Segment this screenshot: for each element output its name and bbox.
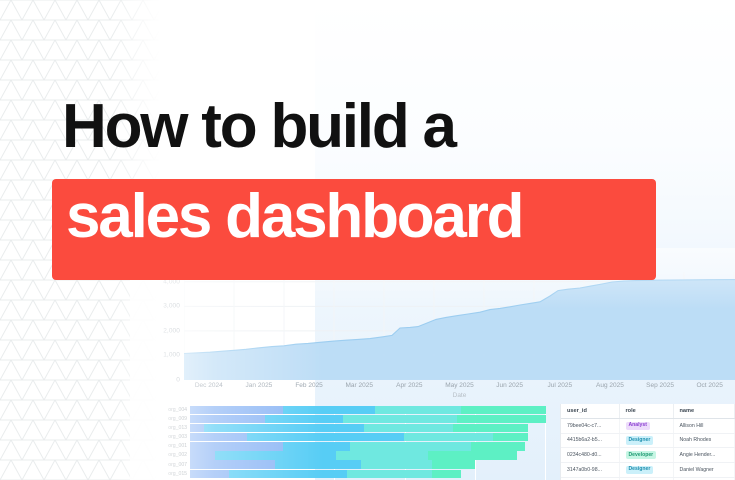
bar-category-label: org_015	[156, 471, 190, 477]
bar-segment-3	[404, 433, 493, 441]
title-highlight-band: sales dashboard	[52, 179, 656, 280]
role-badge: Designer	[626, 436, 654, 444]
bar-row[interactable]: org_003	[156, 433, 546, 441]
cell-name: Allison Hill	[673, 419, 735, 434]
bar-segment-1	[190, 470, 229, 478]
table-row[interactable]: 79bee04c-c7... Analyst Allison Hill	[561, 419, 735, 434]
x-tick-oct-2025: Oct 2025	[696, 382, 722, 389]
area-chart-fill	[184, 280, 735, 380]
y-tick-2000: 2,000	[163, 327, 180, 334]
bar-category-label: org_009	[156, 416, 190, 422]
bar-segment-4	[461, 406, 546, 414]
y-tick-1000: 1,000	[163, 352, 180, 359]
bar-segment-3	[347, 470, 432, 478]
cell-role: Analyst	[619, 419, 673, 434]
bar-category-label: org_001	[156, 443, 190, 449]
bar-category-label: org_002	[156, 452, 190, 458]
users-table: user_id role name 79bee04c-c7... Analyst…	[561, 404, 735, 480]
x-tick-dec-2024: Dec 2024	[195, 382, 223, 389]
role-badge: Analyst	[626, 422, 650, 430]
cell-name: Daniel Wagner	[673, 462, 735, 477]
bar-segment-2	[283, 442, 351, 450]
table-header-row: user_id role name	[561, 404, 735, 419]
org-stacked-bar-chart: org_004 org_009	[156, 406, 546, 480]
cell-role: Developer	[619, 448, 673, 463]
bar-row[interactable]: org_004	[156, 406, 546, 414]
bar-segment-3	[375, 406, 460, 414]
slide-canvas: 0 1,000 2,000 3,000 4,000	[0, 0, 735, 480]
cell-user-id: 0234c480-d0...	[561, 448, 619, 463]
bar-track	[190, 451, 546, 459]
bar-segment-2	[265, 415, 343, 423]
bar-track	[190, 415, 546, 423]
cell-role: Designer	[619, 433, 673, 448]
bar-segment-2	[204, 424, 364, 432]
bar-segment-2	[283, 406, 376, 414]
bar-segment-4	[471, 442, 524, 450]
y-tick-3000: 3,000	[163, 303, 180, 310]
area-chart-x-axis-title: Date	[184, 392, 735, 399]
bar-track	[190, 460, 546, 468]
bar-segment-4	[457, 415, 546, 423]
table-row[interactable]: 3147a0b0-98... Designer Daniel Wagner	[561, 462, 735, 477]
users-data-table[interactable]: user_id role name 79bee04c-c7... Analyst…	[560, 404, 735, 480]
cell-user-id: 79bee04c-c7...	[561, 419, 619, 434]
bar-segment-1	[190, 415, 265, 423]
bar-segment-3	[364, 424, 453, 432]
bar-segment-2	[229, 470, 346, 478]
bar-segment-4	[493, 433, 529, 441]
x-tick-may-2025: May 2025	[445, 382, 474, 389]
area-chart-plot	[184, 272, 735, 380]
bar-segment-1	[190, 406, 283, 414]
x-tick-apr-2025: Apr 2025	[396, 382, 422, 389]
area-chart-y-axis: 0 1,000 2,000 3,000 4,000	[152, 272, 180, 380]
y-tick-0: 0	[176, 377, 180, 384]
table-row[interactable]: 0234c480-d0... Developer Angie Hender...	[561, 448, 735, 463]
x-tick-jul-2025: Jul 2025	[547, 382, 572, 389]
bar-category-label: org_003	[156, 434, 190, 440]
area-chart-svg	[184, 272, 735, 380]
x-tick-sep-2025: Sep 2025	[646, 382, 674, 389]
bar-segment-3	[361, 460, 432, 468]
x-tick-feb-2025: Feb 2025	[295, 382, 322, 389]
bar-segment-2	[215, 451, 336, 459]
bar-segment-1	[190, 424, 204, 432]
bar-track	[190, 406, 546, 414]
bar-category-label: org_013	[156, 425, 190, 431]
column-header-role[interactable]: role	[619, 404, 673, 419]
bar-row[interactable]: org_001	[156, 442, 546, 450]
role-badge: Developer	[626, 451, 657, 459]
cell-name: Noah Rhodes	[673, 433, 735, 448]
bar-row[interactable]: org_009	[156, 415, 546, 423]
cell-name: Angie Hender...	[673, 448, 735, 463]
bar-segment-4	[428, 451, 517, 459]
bar-category-label: org_004	[156, 407, 190, 413]
x-tick-jun-2025: Jun 2025	[496, 382, 523, 389]
dashboard-bottom-row: org_004 org_009	[130, 406, 735, 480]
dashboard-preview: 0 1,000 2,000 3,000 4,000	[130, 272, 735, 480]
bar-segment-4	[453, 424, 528, 432]
bar-segment-4	[432, 460, 475, 468]
bar-segment-1	[190, 451, 215, 459]
page-title-line-2: sales dashboard	[66, 186, 522, 248]
bar-track	[190, 433, 546, 441]
bar-row[interactable]: org_002	[156, 451, 546, 459]
bar-segment-1	[190, 433, 247, 441]
page-title-line-1: How to build a	[62, 96, 455, 158]
bar-row[interactable]: org_013	[156, 424, 546, 432]
bar-segment-3	[350, 442, 471, 450]
column-header-user-id[interactable]: user_id	[561, 404, 619, 419]
cell-user-id: 3147a0b0-98...	[561, 462, 619, 477]
x-tick-mar-2025: Mar 2025	[345, 382, 372, 389]
bar-segment-2	[275, 460, 360, 468]
cell-user-id: 4415b6a2-b5...	[561, 433, 619, 448]
role-badge: Designer	[626, 466, 654, 474]
bar-track	[190, 470, 546, 478]
bar-category-label: org_007	[156, 462, 190, 468]
headline-block: How to build a sales dashboard	[0, 0, 735, 300]
bar-row[interactable]: org_015	[156, 470, 546, 478]
bar-segment-3	[343, 415, 457, 423]
bar-segment-4	[432, 470, 460, 478]
column-header-name[interactable]: name	[673, 404, 735, 419]
x-tick-aug-2025: Aug 2025	[596, 382, 624, 389]
bar-segment-1	[190, 460, 275, 468]
bar-segment-1	[190, 442, 283, 450]
bar-row[interactable]: org_007	[156, 460, 546, 468]
bar-track	[190, 442, 546, 450]
cumulative-area-chart: 0 1,000 2,000 3,000 4,000	[130, 272, 735, 400]
bar-segment-2	[247, 433, 404, 441]
table-row[interactable]: 4415b6a2-b5... Designer Noah Rhodes	[561, 433, 735, 448]
x-tick-jan-2025: Jan 2025	[246, 382, 273, 389]
bar-segment-3	[336, 451, 429, 459]
cell-role: Designer	[619, 462, 673, 477]
bar-track	[190, 424, 546, 432]
